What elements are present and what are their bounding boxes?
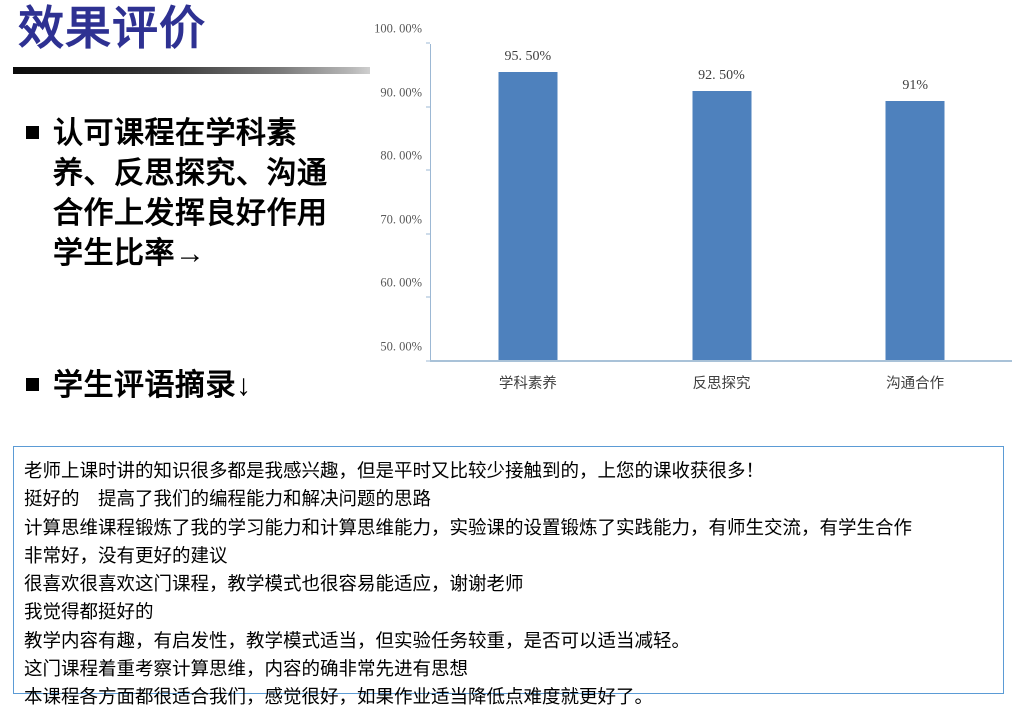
bar-value-label: 91%	[902, 78, 928, 94]
bar[interactable]: 91%	[886, 101, 945, 360]
comment-line: 教学内容有趣，有启发性，教学模式适当，但实验任务较重，是否可以适当减轻。	[24, 627, 997, 655]
y-axis-tick-label: 70. 00%	[380, 212, 422, 227]
comment-line: 挺好的 提高了我们的编程能力和解决问题的思路	[24, 485, 997, 513]
comment-line: 我觉得都挺好的	[24, 598, 997, 626]
bar-value-label: 95. 50%	[504, 49, 551, 65]
bar[interactable]: 92. 50%	[692, 91, 751, 360]
bar-value-label: 92. 50%	[698, 68, 745, 84]
bullet-item-2: 学生评语摘录↓	[26, 366, 371, 406]
y-axis-tick-mark	[426, 43, 430, 44]
student-comments-box: 老师上课时讲的知识很多都是我感兴趣，但是平时又比较少接触到的，上您的课收获很多！…	[13, 446, 1004, 694]
bullet-item-1-label: 认可课程在学科素养、反思探究、沟通合作上发挥良好作用学生比率→	[53, 114, 353, 274]
bar-group: 91%沟通合作	[818, 44, 1012, 360]
comment-line: 老师上课时讲的知识很多都是我感兴趣，但是平时又比较少接触到的，上您的课收获很多！	[24, 457, 997, 485]
comment-line: 计算思维课程锻炼了我的学习能力和计算思维能力，实验课的设置锻炼了实践能力，有师生…	[24, 514, 997, 542]
bar[interactable]: 95. 50%	[498, 72, 557, 360]
square-bullet-icon	[26, 126, 39, 139]
y-axis-tick-label: 90. 00%	[380, 85, 422, 100]
bullet-item-1: 认可课程在学科素养、反思探究、沟通合作上发挥良好作用学生比率→	[26, 114, 371, 274]
bar-series: 95. 50%学科素养92. 50%反思探究91%沟通合作	[431, 44, 1012, 360]
chart-plot-area: 50. 00%60. 00%70. 00%80. 00%90. 00%100. …	[430, 44, 978, 362]
y-axis-tick-mark	[426, 297, 430, 298]
bullet-item-2-label: 学生评语摘录↓	[53, 366, 252, 406]
bar-group: 95. 50%学科素养	[431, 44, 625, 360]
comment-line: 本课程各方面都很适合我们，感觉很好，如果作业适当降低点难度就更好了。	[24, 683, 997, 711]
bar-group: 92. 50%反思探究	[625, 44, 819, 360]
x-axis-category-label: 反思探究	[693, 372, 751, 393]
x-axis-line	[430, 360, 1012, 362]
x-axis-category-label: 沟通合作	[886, 372, 944, 393]
y-axis-tick-mark	[426, 233, 430, 234]
y-axis-tick-label: 60. 00%	[380, 276, 422, 291]
x-axis-category-label: 学科素养	[499, 372, 557, 393]
y-axis-tick-label: 80. 00%	[380, 149, 422, 164]
title-divider	[13, 67, 370, 74]
y-axis-tick-mark	[426, 361, 430, 362]
comment-line: 很喜欢很喜欢这门课程，教学模式也很容易能适应，谢谢老师	[24, 570, 997, 598]
y-axis-tick-label: 50. 00%	[380, 340, 422, 355]
page-title: 效果评价	[18, 2, 206, 55]
bar-chart: 50. 00%60. 00%70. 00%80. 00%90. 00%100. …	[372, 30, 1012, 402]
comment-line: 这门课程着重考察计算思维，内容的确非常先进有思想	[24, 655, 997, 683]
y-axis-tick-mark	[426, 106, 430, 107]
y-axis-tick-label: 100. 00%	[374, 22, 422, 37]
square-bullet-icon	[26, 378, 39, 391]
comment-line: 非常好，没有更好的建议	[24, 542, 997, 570]
y-axis-tick-mark	[426, 170, 430, 171]
